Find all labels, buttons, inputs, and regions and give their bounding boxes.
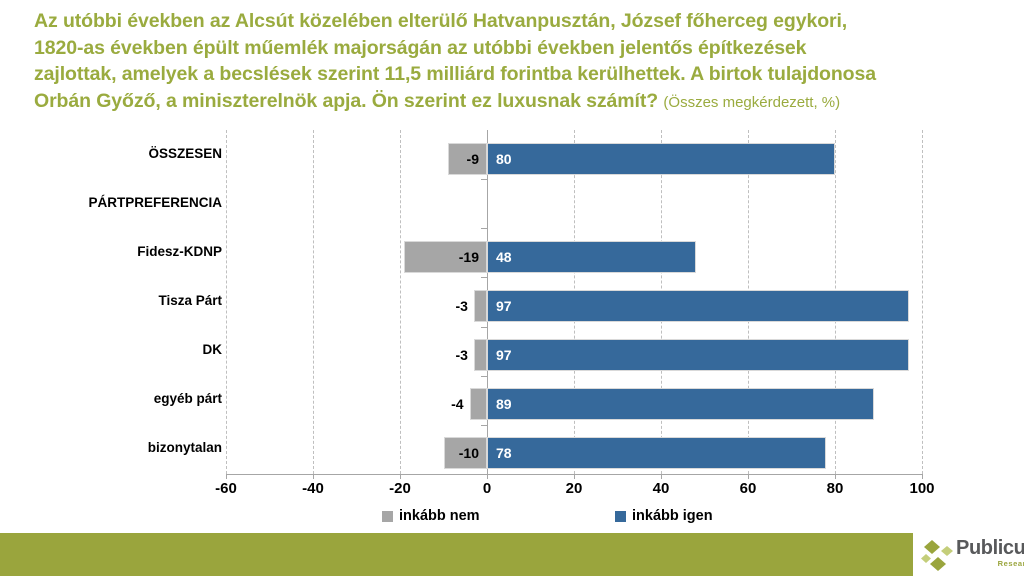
category-axis-tick xyxy=(481,277,487,278)
bar-inkabb-igen[interactable]: 80 xyxy=(487,143,835,175)
category-label: bizonytalan xyxy=(18,440,222,455)
bar-value-inkabb-igen: 97 xyxy=(488,347,512,363)
title-line-2: 1820-as években épült műemlék majorságán… xyxy=(34,35,994,62)
bar-inkabb-nem[interactable]: -4 xyxy=(470,388,487,420)
category-axis-tick xyxy=(481,425,487,426)
bar-value-inkabb-nem: -10 xyxy=(459,445,486,461)
category-axis-tick xyxy=(481,228,487,229)
x-axis-tick-label: 40 xyxy=(653,480,670,497)
chart-row: -1078 xyxy=(226,429,922,478)
x-axis-tick-label: 80 xyxy=(827,480,844,497)
title-question: Orbán Győző, a miniszterelnök apja. Ön s… xyxy=(34,90,658,112)
gridline xyxy=(922,130,923,474)
bar-value-inkabb-igen: 80 xyxy=(488,151,512,167)
chart-row: -1948 xyxy=(226,232,922,281)
category-axis-tick xyxy=(481,179,487,180)
x-axis-tick-label: 100 xyxy=(909,480,934,497)
x-axis-tick-label: 20 xyxy=(566,480,583,497)
title-line-4: Orbán Győző, a miniszterelnök apja. Ön s… xyxy=(34,88,994,117)
bar-value-inkabb-nem: -9 xyxy=(467,151,486,167)
bar-value-inkabb-igen: 78 xyxy=(488,445,512,461)
category-axis-tick xyxy=(481,376,487,377)
chart-row: -489 xyxy=(226,380,922,429)
footer-green-bar xyxy=(0,533,913,576)
x-axis-tick xyxy=(835,474,836,479)
diverging-bar-chart: -980-1948-397-397-489-1078 -60-40-200204… xyxy=(0,126,1024,526)
category-label: Fidesz-KDNP xyxy=(18,244,222,259)
publicus-diamond-icon xyxy=(920,540,954,572)
bar-value-inkabb-igen: 97 xyxy=(488,298,512,314)
bar-inkabb-nem[interactable]: -10 xyxy=(444,437,488,469)
legend-label-inkabb-igen: inkább igen xyxy=(632,508,713,524)
publicus-research-logo: Publicus Research xyxy=(920,536,1024,576)
bar-value-inkabb-igen: 48 xyxy=(488,249,512,265)
chart-row: -980 xyxy=(226,134,922,183)
title-line-1: Az utóbbi években az Alcsút közelében el… xyxy=(34,8,994,35)
chart-row: -397 xyxy=(226,331,922,380)
title-subtitle: (Összes megkérdezett, %) xyxy=(663,94,840,111)
x-axis-tick xyxy=(748,474,749,479)
x-axis-tick xyxy=(922,474,923,479)
bar-inkabb-nem[interactable]: -3 xyxy=(474,290,487,322)
category-label: ÖSSZESEN xyxy=(18,146,222,161)
bar-value-inkabb-nem: -19 xyxy=(459,249,486,265)
chart-legend: inkább nem inkább igen xyxy=(0,508,1024,532)
chart-row: -397 xyxy=(226,281,922,330)
bar-inkabb-igen[interactable]: 78 xyxy=(487,437,826,469)
x-axis-tick xyxy=(574,474,575,479)
x-axis-tick-label: 0 xyxy=(483,480,491,497)
legend-swatch-blue xyxy=(615,511,626,522)
chart-title-block: Az utóbbi években az Alcsút közelében el… xyxy=(34,8,994,116)
bar-inkabb-nem[interactable]: -9 xyxy=(448,143,487,175)
x-axis-tick xyxy=(400,474,401,479)
category-label: PÁRTPREFERENCIA xyxy=(18,195,222,210)
legend-label-inkabb-nem: inkább nem xyxy=(399,508,480,524)
plot-area: -980-1948-397-397-489-1078 xyxy=(226,130,922,474)
category-label: Tisza Párt xyxy=(18,293,222,308)
bar-inkabb-igen[interactable]: 48 xyxy=(487,241,696,273)
x-axis-tick xyxy=(226,474,227,479)
category-label: DK xyxy=(18,342,222,357)
bar-inkabb-igen[interactable]: 89 xyxy=(487,388,874,420)
bar-value-inkabb-nem: -3 xyxy=(455,347,474,363)
chart-row xyxy=(226,183,922,232)
x-axis-tick-label: -20 xyxy=(389,480,411,497)
x-axis-tick-label: 60 xyxy=(740,480,757,497)
x-axis-tick xyxy=(661,474,662,479)
bar-inkabb-igen[interactable]: 97 xyxy=(487,339,909,371)
legend-item-inkabb-nem[interactable]: inkább nem xyxy=(382,508,480,524)
category-label: egyéb párt xyxy=(18,391,222,406)
bar-inkabb-nem[interactable]: -19 xyxy=(404,241,487,273)
bar-inkabb-igen[interactable]: 97 xyxy=(487,290,909,322)
category-axis-tick xyxy=(481,327,487,328)
logo-name: Publicus xyxy=(956,538,1024,559)
bar-inkabb-nem[interactable]: -3 xyxy=(474,339,487,371)
bar-value-inkabb-igen: 89 xyxy=(488,396,512,412)
title-line-3: zajlottak, amelyek a becslések szerint 1… xyxy=(34,61,994,88)
bar-value-inkabb-nem: -3 xyxy=(455,298,474,314)
legend-swatch-gray xyxy=(382,511,393,522)
bar-value-inkabb-nem: -4 xyxy=(451,396,470,412)
legend-item-inkabb-igen[interactable]: inkább igen xyxy=(615,508,713,524)
x-axis-tick-label: -40 xyxy=(302,480,324,497)
x-axis-tick-label: -60 xyxy=(215,480,237,497)
logo-tagline: Research xyxy=(956,559,1024,568)
logo-wordmark: Publicus Research xyxy=(956,538,1024,568)
x-axis-tick xyxy=(313,474,314,479)
x-axis-tick xyxy=(487,474,488,479)
